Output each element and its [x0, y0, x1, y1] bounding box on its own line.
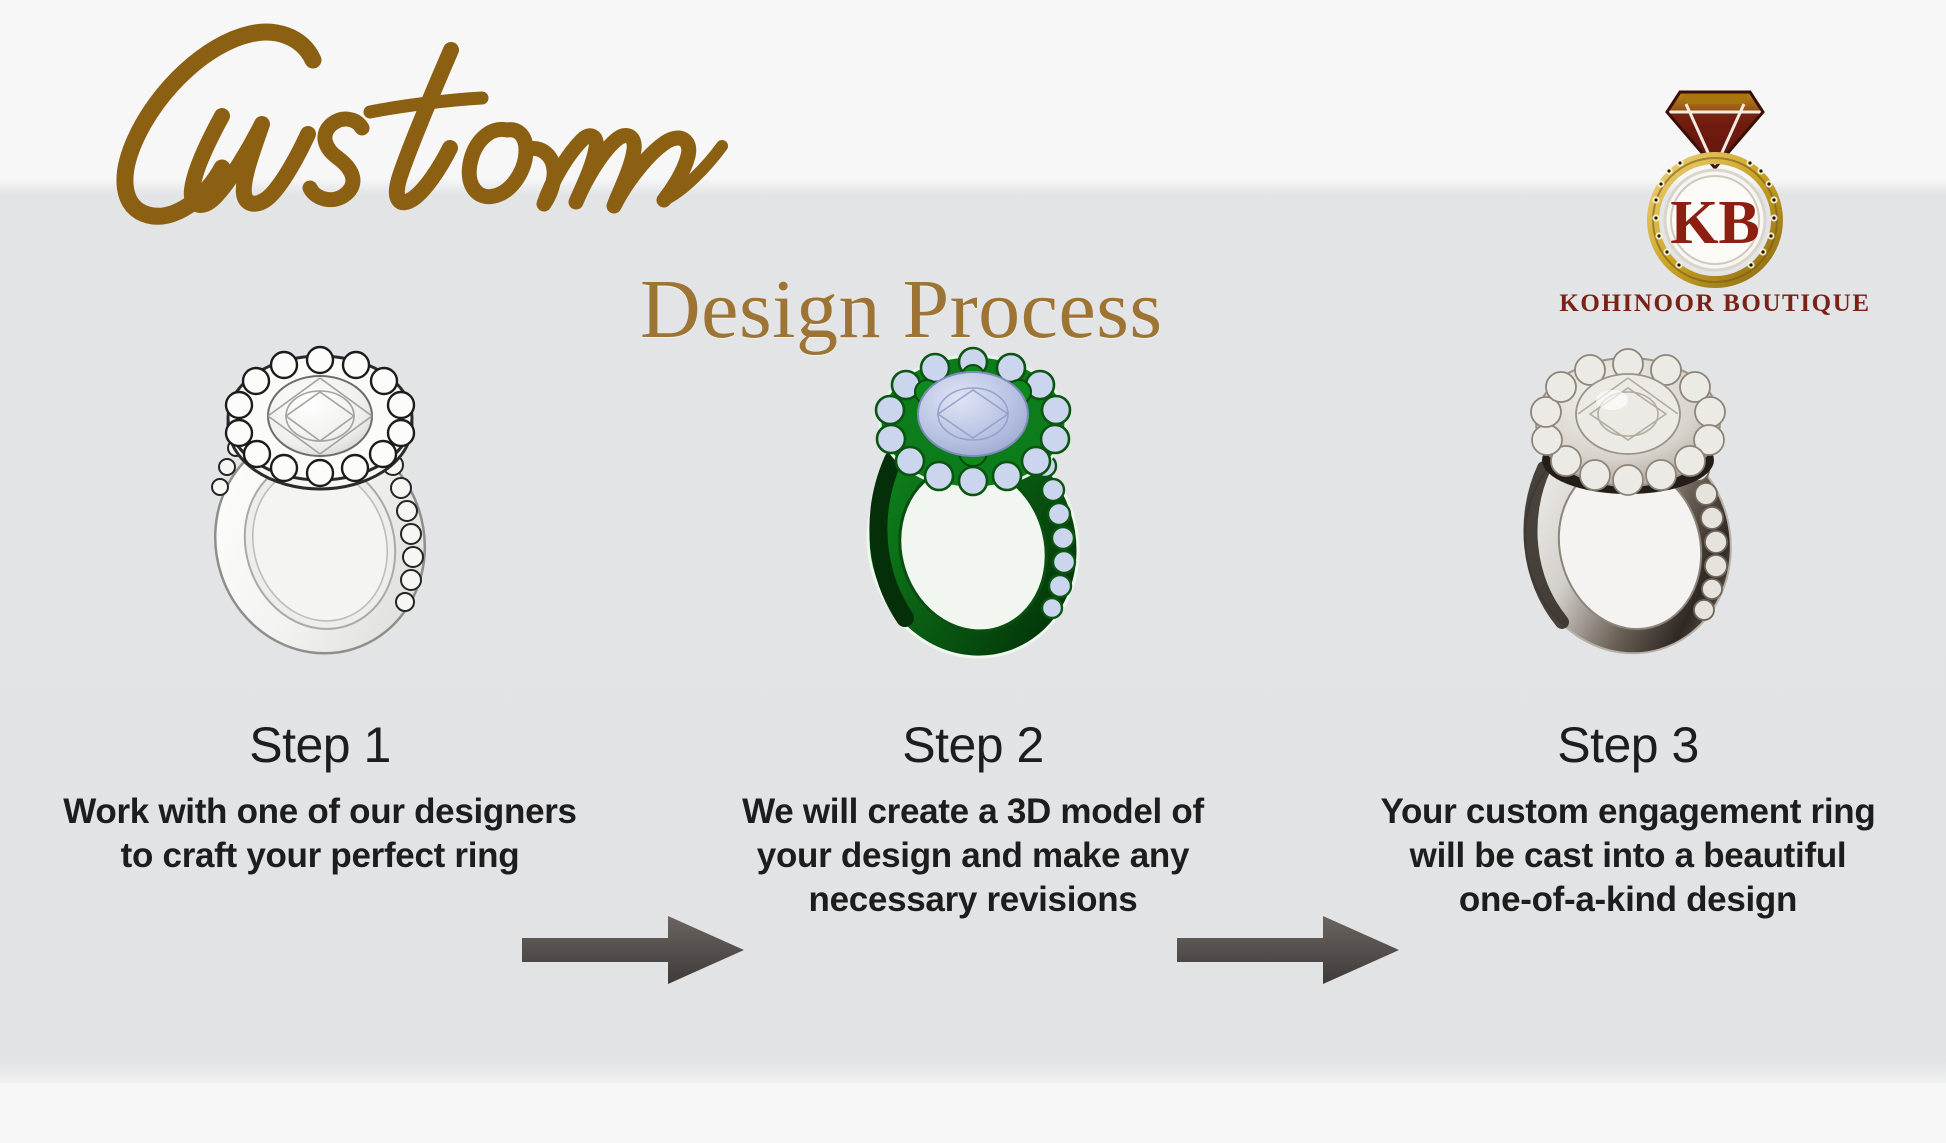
- step-card-3: Step 3 Your custom engagement ring will …: [1318, 330, 1938, 1090]
- ring-sketch-wireframe-icon: [10, 330, 630, 660]
- step-description: Work with one of our designers to craft …: [10, 790, 630, 878]
- logo-brand-name: KOHINOOR BOUTIQUE: [1540, 290, 1890, 318]
- step-description: Your custom engagement ring will be cast…: [1318, 790, 1938, 922]
- background-band-bottom: [0, 1083, 1946, 1143]
- diamond-ring-kb-icon: KB: [1620, 68, 1810, 293]
- ring-cast-photo-icon: [1318, 330, 1938, 660]
- logo-monogram: KB: [1670, 189, 1760, 257]
- ring-3d-model-green-icon: [663, 330, 1283, 660]
- custom-design-process-poster: Design Process: [0, 0, 1946, 1143]
- brand-logo[interactable]: KB KOHINOOR BOUTIQUE: [1540, 68, 1890, 368]
- step-title: Step 3: [1318, 720, 1938, 770]
- step-description: We will create a 3D model of your design…: [663, 790, 1283, 922]
- step-title: Step 1: [10, 720, 630, 770]
- step-title: Step 2: [663, 720, 1283, 770]
- steps-row: Step 1 Work with one of our designers to…: [0, 330, 1946, 1090]
